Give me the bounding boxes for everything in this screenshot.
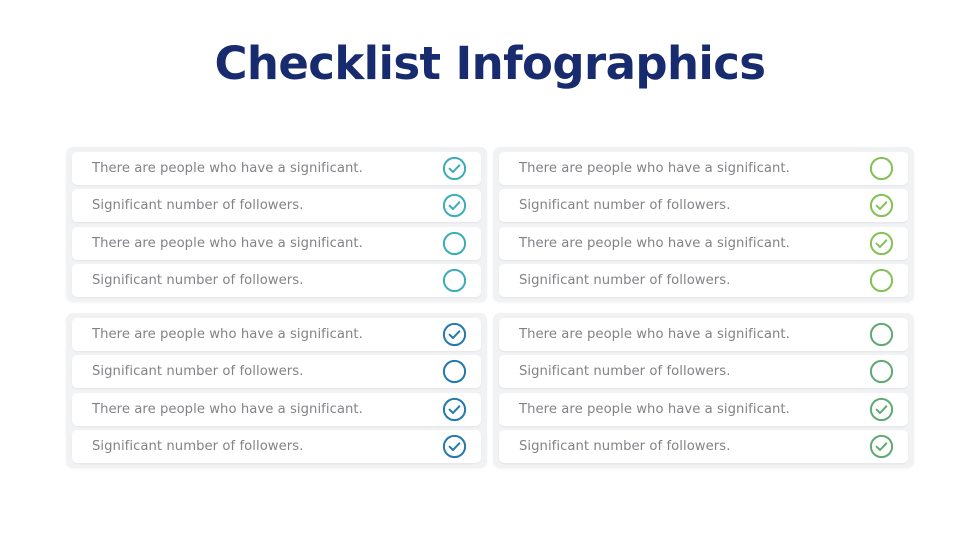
check-circle-filled-icon[interactable] xyxy=(869,434,894,459)
checklist-row-label: There are people who have a significant. xyxy=(519,237,790,250)
check-circle-filled-icon[interactable] xyxy=(442,322,467,347)
check-circle-filled-icon[interactable] xyxy=(442,156,467,181)
checklist-row[interactable]: Significant number of followers. xyxy=(499,264,908,297)
panel-bottom-left: There are people who have a significant.… xyxy=(66,313,487,468)
checklist-row[interactable]: There are people who have a significant. xyxy=(72,227,481,260)
panel-bottom-right: There are people who have a significant.… xyxy=(493,313,914,468)
checklist-row[interactable]: There are people who have a significant. xyxy=(72,318,481,351)
checklist-row-label: There are people who have a significant. xyxy=(519,403,790,416)
panel-top-right: There are people who have a significant.… xyxy=(493,147,914,302)
checklist-row[interactable]: Significant number of followers. xyxy=(499,355,908,388)
checklist-row-label: There are people who have a significant. xyxy=(519,328,790,341)
circle-outline-icon[interactable] xyxy=(442,268,467,293)
checklist-row[interactable]: Significant number of followers. xyxy=(72,264,481,297)
checklist-row-label: There are people who have a significant. xyxy=(519,162,790,175)
checklist-row-label: Significant number of followers. xyxy=(519,440,730,453)
circle-outline-icon[interactable] xyxy=(869,268,894,293)
circle-outline-icon[interactable] xyxy=(442,359,467,384)
circle-outline-icon[interactable] xyxy=(442,231,467,256)
checklist-row-label: Significant number of followers. xyxy=(519,274,730,287)
circle-outline-icon[interactable] xyxy=(869,322,894,347)
checklist-row[interactable]: Significant number of followers. xyxy=(499,189,908,222)
checklist-row[interactable]: There are people who have a significant. xyxy=(72,393,481,426)
checklist-row-label: There are people who have a significant. xyxy=(92,403,363,416)
checklist-row[interactable]: There are people who have a significant. xyxy=(499,227,908,260)
panel-top-left: There are people who have a significant.… xyxy=(66,147,487,302)
checklist-row-label: Significant number of followers. xyxy=(92,440,303,453)
checklist-row[interactable]: Significant number of followers. xyxy=(72,430,481,463)
checklist-row-label: Significant number of followers. xyxy=(92,365,303,378)
check-circle-filled-icon[interactable] xyxy=(869,397,894,422)
checklist-row[interactable]: There are people who have a significant. xyxy=(72,152,481,185)
checklist-panel-grid: There are people who have a significant.… xyxy=(66,147,914,468)
check-circle-filled-icon[interactable] xyxy=(442,434,467,459)
checklist-row[interactable]: There are people who have a significant. xyxy=(499,318,908,351)
page-title: Checklist Infographics xyxy=(0,38,980,90)
checklist-row-label: Significant number of followers. xyxy=(92,199,303,212)
checklist-row[interactable]: There are people who have a significant. xyxy=(499,393,908,426)
check-circle-filled-icon[interactable] xyxy=(442,397,467,422)
slide-canvas: Checklist Infographics There are people … xyxy=(0,0,980,551)
checklist-row[interactable]: Significant number of followers. xyxy=(72,355,481,388)
check-circle-filled-icon[interactable] xyxy=(869,193,894,218)
checklist-row-label: Significant number of followers. xyxy=(519,199,730,212)
checklist-row-label: There are people who have a significant. xyxy=(92,237,363,250)
checklist-row[interactable]: There are people who have a significant. xyxy=(499,152,908,185)
checklist-row-label: There are people who have a significant. xyxy=(92,328,363,341)
checklist-row-label: There are people who have a significant. xyxy=(92,162,363,175)
check-circle-filled-icon[interactable] xyxy=(869,231,894,256)
circle-outline-icon[interactable] xyxy=(869,359,894,384)
checklist-row[interactable]: Significant number of followers. xyxy=(499,430,908,463)
circle-outline-icon[interactable] xyxy=(869,156,894,181)
check-circle-filled-icon[interactable] xyxy=(442,193,467,218)
checklist-row[interactable]: Significant number of followers. xyxy=(72,189,481,222)
checklist-row-label: Significant number of followers. xyxy=(519,365,730,378)
checklist-row-label: Significant number of followers. xyxy=(92,274,303,287)
